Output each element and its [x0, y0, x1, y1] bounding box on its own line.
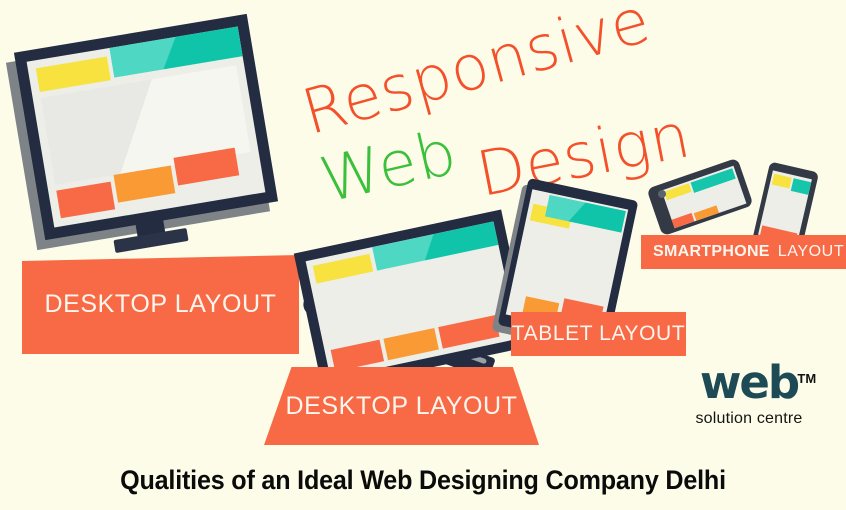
banner-desktop-layout-monitor[interactable]: DESKTOP LAYOUT [22, 255, 299, 354]
tablet-content-area [515, 225, 617, 308]
monitor-screen [27, 26, 266, 227]
logo-trademark-icon: TM [797, 354, 816, 404]
logo-wordmark: web TM [700, 358, 798, 408]
banner-desktop-layout-laptop-label: DESKTOP LAYOUT [285, 392, 517, 421]
banner-tablet-layout[interactable]: TABLET LAYOUT [511, 312, 686, 356]
logo[interactable]: web TM solution centre [669, 358, 829, 440]
banner-smartphone-label-light: LAYOUT [778, 243, 844, 261]
logo-wordmark-text: web [700, 356, 798, 409]
page-title: Qualities of an Ideal Web Designing Comp… [30, 455, 817, 505]
monitor-block-1 [56, 182, 115, 219]
banner-desktop-layout-monitor-label: DESKTOP LAYOUT [44, 290, 276, 319]
monitor-yellow-bar [36, 56, 111, 92]
smartphone-right-yellow-bar [772, 174, 792, 189]
banner-desktop-layout-laptop[interactable]: DESKTOP LAYOUT [264, 367, 539, 445]
poster-canvas: DESKTOP LAYOUT Responsive Web Design [0, 0, 846, 510]
headline-responsive: Responsive [294, 0, 657, 149]
headline-web: Web [314, 115, 464, 217]
banner-smartphone-label-strong: SMARTPHONE [653, 243, 770, 261]
smartphone-right-teal-bar [791, 178, 811, 195]
logo-subtitle: solution centre [669, 410, 829, 428]
banner-tablet-layout-label: TABLET LAYOUT [512, 322, 686, 346]
device-desktop-monitor [18, 22, 268, 262]
device-smartphone-left [652, 166, 762, 246]
smartphone-right-content-area [763, 188, 806, 231]
device-laptop [296, 228, 526, 388]
laptop-block-1 [331, 340, 384, 372]
banner-smartphone-layout[interactable]: SMARTPHONE LAYOUT [641, 235, 846, 269]
